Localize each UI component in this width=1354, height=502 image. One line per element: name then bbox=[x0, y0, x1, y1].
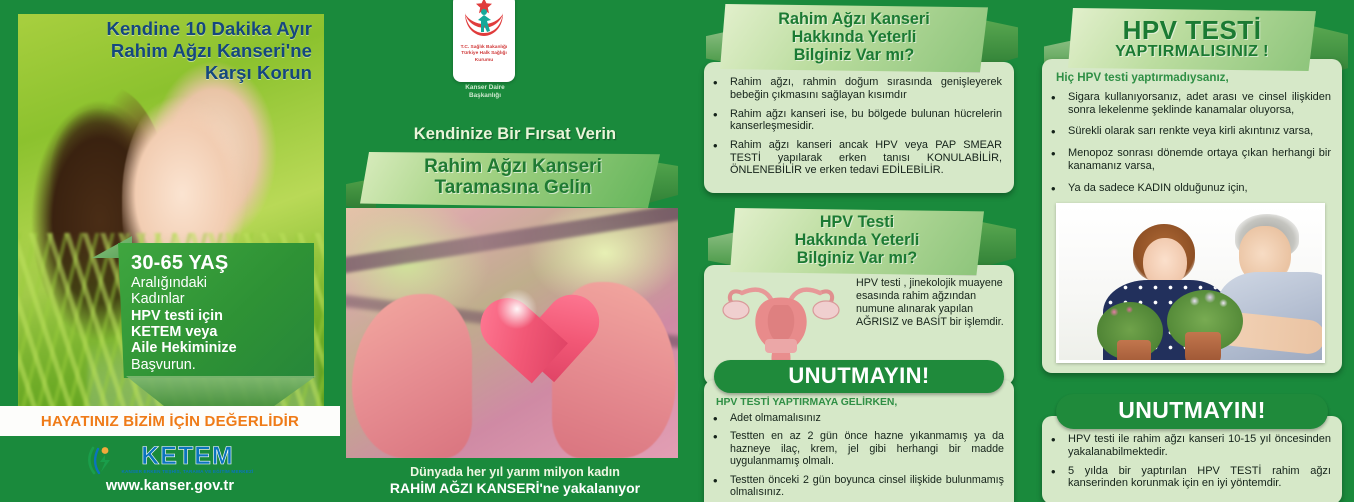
list-item: Rahim ağzı kanseri ise, bu bölgede bulun… bbox=[708, 108, 1002, 133]
ketem-figure-icon bbox=[86, 445, 116, 475]
title-line-3: Bilginiz Var mı? bbox=[797, 249, 918, 267]
age-card-line-7: Başvurun. bbox=[131, 357, 304, 373]
ministry-crescent-icon bbox=[453, 0, 515, 44]
ministry-line-2: Türkiye Halk Sağlığı bbox=[453, 51, 515, 57]
panel2-ribbon-text: Rahim Ağzı Kanseri Taramasına Gelin bbox=[368, 156, 658, 199]
list-item: HPV testi ile rahim ağzı kanseri 10-15 y… bbox=[1046, 433, 1331, 459]
title-line-2: Hakkında Yeterli bbox=[795, 231, 920, 249]
card-title: HPV TESTİ YAPTIRMALISINIZ ! bbox=[1068, 16, 1316, 61]
footer-line-1: Dünyada her yıl yarım milyon kadın bbox=[410, 465, 620, 479]
hpv-test-info-card: HPV Testi Hakkında Yeterli Bilginiz Var … bbox=[704, 208, 1014, 385]
list-item: 5 yılda bir yaptırılan HPV TESTİ rahim a… bbox=[1046, 465, 1331, 491]
flower-pot-left bbox=[1117, 340, 1151, 363]
title-line-1: Rahim Ağzı Kanseri bbox=[778, 10, 929, 28]
card-body: Hiç HPV testi yaptırmadıysanız, Sigara k… bbox=[1042, 59, 1342, 374]
ribbon-line-1: Rahim Ağzı Kanseri bbox=[368, 156, 658, 177]
panel1-headline: Kendine 10 Dakika Ayır Rahim Ağzı Kanser… bbox=[60, 18, 312, 84]
age-range-label: 30-65 YAŞ bbox=[131, 252, 304, 275]
title-small: YAPTIRMALISINIZ ! bbox=[1068, 43, 1316, 61]
ketem-subtitle: KANSER ERKEN TEŞHİS, TARAMA VE EĞİTİM ME… bbox=[121, 469, 253, 474]
hands-holding-heart-photo bbox=[346, 208, 678, 458]
list-item: Rahim ağzı kanseri ancak HPV veya PAP SM… bbox=[708, 139, 1002, 177]
heart-sparkle bbox=[494, 286, 540, 332]
department-line-1: Kanser Daire bbox=[440, 84, 530, 92]
left-hand bbox=[352, 294, 472, 458]
age-card-line-2: Aralığındaki bbox=[131, 275, 304, 291]
panel2-footer: Dünyada her yıl yarım milyon kadın RAHİM… bbox=[340, 458, 690, 502]
list-item: Testten önceki 2 gün boyunca cinsel iliş… bbox=[708, 474, 1004, 499]
reminder-body: HPV TESTİ YAPTIRMAYA GELİRKEN, Adet olma… bbox=[704, 380, 1014, 502]
age-card-line-3: Kadınlar bbox=[131, 291, 304, 307]
panel-awareness: Kendine 10 Dakika Ayır Rahim Ağzı Kanser… bbox=[0, 0, 340, 502]
reminder-heading: UNUTMAYIN! bbox=[1056, 394, 1328, 429]
reminder-lead-text: HPV TESTİ YAPTIRMAYA GELİRKEN, bbox=[708, 397, 1004, 408]
ministry-of-health-logo: T.C. Sağlık Bakanlığı Türkiye Halk Sağlı… bbox=[453, 0, 515, 82]
list-item: Sürekli olarak sarı renkte veya kirli ak… bbox=[1046, 125, 1331, 138]
panel-call-to-action: HPV TESTİ YAPTIRMALISINIZ ! Hiç HPV test… bbox=[1030, 0, 1354, 502]
card-lead-text: Hiç HPV testi yaptırmadıysanız, bbox=[1046, 71, 1331, 84]
cervical-cancer-info-card: Rahim Ağzı Kanseri Hakkında Yeterli Bilg… bbox=[704, 4, 1014, 193]
value-banner: HAYATINIZ BİZİM İÇİN DEĞERLİDİR bbox=[0, 406, 340, 436]
flower-pot-right bbox=[1185, 332, 1221, 363]
card-title: Rahim Ağzı Kanseri Hakkında Yeterli Bilg… bbox=[720, 11, 988, 64]
list-item: Adet olmamalısınız bbox=[708, 412, 1004, 424]
title-line-2: Hakkında Yeterli bbox=[792, 28, 917, 46]
title-big: HPV TESTİ bbox=[1123, 15, 1262, 45]
reminder-heading: UNUTMAYIN! bbox=[714, 360, 1004, 393]
violet-flowers bbox=[1185, 288, 1233, 314]
list-item: Sigara kullanıyorsanız, adet arası ve ci… bbox=[1046, 91, 1331, 117]
list-item: Rahim ağzı, rahmin doğum sırasında geniş… bbox=[708, 76, 1002, 101]
elderly-couple-photo bbox=[1056, 203, 1325, 363]
ketem-wordmark: KETEM bbox=[141, 445, 234, 469]
panel-information: Rahim Ağzı Kanseri Hakkında Yeterli Bilg… bbox=[690, 0, 1030, 502]
list-item: Ya da sadece KADIN olduğunuz için, bbox=[1046, 182, 1331, 195]
age-card-line-6: Aile Hekiminize bbox=[131, 340, 304, 356]
card-title: HPV Testi Hakkında Yeterli Bilginiz Var … bbox=[730, 214, 984, 267]
age-card-line-4: HPV testi için bbox=[131, 308, 304, 324]
ministry-line-3: Kurumu bbox=[453, 58, 515, 64]
footer-line-2: RAHİM AĞZI KANSERİ'ne yakalanıyor bbox=[390, 480, 640, 496]
reminder-card-panel3: UNUTMAYIN! HPV TESTİ YAPTIRMAYA GELİRKEN… bbox=[704, 360, 1014, 502]
info-bullet-list: Rahim ağzı, rahmin doğum sırasında geniş… bbox=[708, 76, 1002, 176]
list-item: Testten en az 2 gün önce hazne yıkanmamı… bbox=[708, 430, 1004, 467]
ketem-url[interactable]: www.kanser.gov.tr bbox=[106, 478, 234, 494]
age-advice-card: 30-65 YAŞ Aralığındaki Kadınlar HPV test… bbox=[118, 243, 314, 378]
ketem-logo-area: KETEM KANSER ERKEN TEŞHİS, TARAMA VE EĞİ… bbox=[0, 436, 340, 502]
card-header-ribbon: HPV Testi Hakkında Yeterli Bilginiz Var … bbox=[730, 208, 984, 275]
panel2-kicker: Kendinize Bir Fırsat Verin bbox=[340, 125, 690, 144]
risk-bullet-list: Sigara kullanıyorsanız, adet arası ve ci… bbox=[1046, 91, 1331, 195]
department-label: Kanser Daire Başkanlığı bbox=[440, 84, 530, 101]
headline-line-1: Kendine 10 Dakika Ayır bbox=[60, 18, 312, 40]
reminder-card-panel4: UNUTMAYIN! HPV testi ile rahim ağzı kans… bbox=[1042, 394, 1342, 502]
get-tested-card: HPV TESTİ YAPTIRMALISINIZ ! Hiç HPV test… bbox=[1042, 8, 1342, 373]
headline-line-3: Karşı Korun bbox=[60, 62, 312, 84]
card-header-ribbon: Rahim Ağzı Kanseri Hakkında Yeterli Bilg… bbox=[720, 4, 988, 72]
department-line-2: Başkanlığı bbox=[440, 92, 530, 100]
value-banner-text: HAYATINIZ BİZİM İÇİN DEĞERLİDİR bbox=[41, 413, 299, 430]
title-line-3: Bilginiz Var mı? bbox=[794, 46, 915, 64]
poster-root: Kendine 10 Dakika Ayır Rahim Ağzı Kanser… bbox=[0, 0, 1354, 502]
headline-line-2: Rahim Ağzı Kanseri'ne bbox=[60, 40, 312, 62]
list-item: Menopoz sonrası dönemde ortaya çıkan her… bbox=[1046, 147, 1331, 173]
panel-invitation: T.C. Sağlık Bakanlığı Türkiye Halk Sağlı… bbox=[340, 0, 690, 502]
title-line-1: HPV Testi bbox=[820, 213, 894, 231]
reminder-bullet-list: Adet olmamalısınız Testten en az 2 gün ö… bbox=[708, 412, 1004, 498]
card-header-ribbon: HPV TESTİ YAPTIRMALISINIZ ! bbox=[1068, 8, 1316, 71]
age-card-line-5: KETEM veya bbox=[131, 324, 304, 340]
reminder-bullet-list: HPV testi ile rahim ağzı kanseri 10-15 y… bbox=[1046, 433, 1331, 490]
card-body: Rahim ağzı, rahmin doğum sırasında geniş… bbox=[704, 62, 1014, 192]
pink-flowers bbox=[1103, 302, 1143, 322]
ribbon-line-2: Taramasına Gelin bbox=[368, 177, 658, 198]
